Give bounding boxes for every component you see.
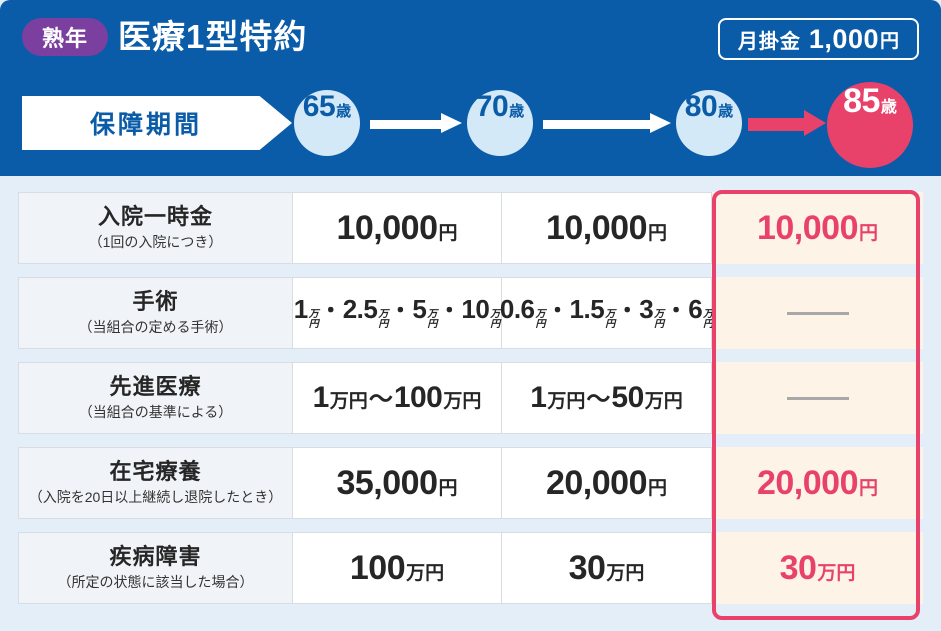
amount-number: 0.6	[500, 296, 535, 322]
amount-unit: 万円	[817, 564, 855, 583]
no-benefit-dash-icon	[787, 397, 849, 400]
age-node-85-suffix: 歳	[881, 93, 897, 117]
amount-number: 1	[294, 296, 308, 322]
amount-unit: 万円	[406, 564, 444, 583]
table-row: 入院一時金 （1回の入院につき） 10,000円 10,000円 10,000円	[18, 192, 923, 264]
card-header: 熟年 医療1型特約 月掛金 1,000 円 保障期間 65歳 70歳	[0, 0, 941, 176]
amount-number: 30	[569, 551, 606, 585]
amount-number: 30	[780, 551, 817, 585]
page-title: 医療1型特約	[118, 13, 307, 61]
age-node-80-value: 80	[685, 90, 717, 124]
benefit-value-age80	[712, 277, 923, 349]
age-node-80: 80歳	[676, 90, 742, 156]
amount-number: 20,000	[757, 466, 858, 500]
benefit-note: （所定の状態に該当した場合）	[58, 572, 254, 592]
age-node-80-suffix: 歳	[718, 100, 733, 121]
benefit-value-age65: 10,000円	[292, 192, 502, 264]
timeline-arrow-1-icon	[370, 116, 462, 130]
benefit-value-age80: 30万円	[712, 532, 923, 604]
amount-unit: 万円	[443, 392, 481, 411]
benefit-value-age70: 30万円	[502, 532, 712, 604]
benefit-name-cell: 入院一時金 （1回の入院につき）	[18, 192, 292, 264]
premium-amount: 1,000	[809, 24, 879, 55]
man-unit: 万	[427, 310, 437, 320]
man-unit: 万	[703, 310, 713, 320]
amount-number: 10,000	[546, 211, 647, 245]
coverage-period-banner: 保障期間	[22, 96, 292, 150]
benefit-value-age70: 1万円〜50万円	[502, 362, 712, 434]
benefit-value-age80	[712, 362, 923, 434]
man-unit: 万	[490, 310, 500, 320]
man-unit: 万	[536, 310, 546, 320]
plan-category-badge: 熟年	[22, 18, 108, 56]
benefit-name: 在宅療養	[109, 459, 201, 485]
benefit-name: 手術	[132, 289, 178, 315]
benefit-name-cell: 手術 （当組合の定める手術）	[18, 277, 292, 349]
age-node-65: 65歳	[294, 90, 360, 156]
coverage-timeline: 保障期間 65歳 70歳 80歳 85歳	[0, 82, 941, 166]
benefit-name: 先進医療	[109, 374, 201, 400]
benefit-value-age65: 35,000円	[292, 447, 502, 519]
no-benefit-dash-icon	[787, 312, 849, 315]
amount-unit: 万円	[547, 392, 585, 411]
amount-unit: 円	[648, 224, 667, 243]
age-node-70-suffix: 歳	[509, 100, 524, 121]
yen-unit: 円	[605, 320, 615, 330]
table-row: 手術 （当組合の定める手術） 1万円・2.5万円・5万円・10万円 0.6万円・…	[18, 277, 923, 349]
header-title-bar: 熟年 医療1型特約 月掛金 1,000 円	[0, 0, 941, 80]
amount-from: 1	[530, 383, 546, 413]
age-node-65-suffix: 歳	[336, 100, 351, 121]
amount-unit: 円	[859, 479, 878, 498]
range-tilde: 〜	[586, 388, 610, 412]
table-row: 疾病障害 （所定の状態に該当した場合） 100万円 30万円 30万円	[18, 532, 923, 604]
amount-number: 10,000	[757, 211, 858, 245]
premium-unit: 円	[880, 26, 899, 53]
yen-unit: 円	[490, 320, 500, 330]
yen-unit: 円	[309, 320, 319, 330]
amount-number: 10	[461, 296, 489, 322]
benefit-note: （当組合の定める手術）	[79, 317, 233, 337]
benefits-table: 入院一時金 （1回の入院につき） 10,000円 10,000円 10,000円	[18, 192, 923, 604]
benefit-name-cell: 在宅療養 （入院を20日以上継続し退院したとき）	[18, 447, 292, 519]
premium-label: 月掛金	[738, 25, 801, 54]
benefit-note: （1回の入院につき）	[89, 232, 223, 252]
man-unit: 万	[654, 310, 664, 320]
age-node-70: 70歳	[467, 90, 533, 156]
benefit-value-age80: 10,000円	[712, 192, 923, 264]
timeline-arrow-2-icon	[543, 116, 671, 130]
man-unit: 万	[605, 310, 615, 320]
amount-number: 100	[350, 551, 405, 585]
amount-number: 1.5	[570, 296, 605, 322]
amount-unit: 万円	[645, 392, 683, 411]
insurance-plan-card: 熟年 医療1型特約 月掛金 1,000 円 保障期間 65歳 70歳	[0, 0, 941, 631]
amount-unit: 円	[438, 479, 457, 498]
amount-number: 20,000	[546, 466, 647, 500]
benefit-note: （入院を20日以上継続し退院したとき）	[29, 487, 283, 507]
amount-number: 5	[412, 296, 426, 322]
yen-unit: 円	[378, 320, 388, 330]
man-unit: 万	[378, 310, 388, 320]
amount-unit: 円	[859, 224, 878, 243]
benefit-name-cell: 疾病障害 （所定の状態に該当した場合）	[18, 532, 292, 604]
age-node-85-value: 85	[843, 82, 880, 121]
amount-number: 2.5	[343, 296, 378, 322]
yen-unit: 円	[536, 320, 546, 330]
benefit-value-age70: 10,000円	[502, 192, 712, 264]
table-row: 在宅療養 （入院を20日以上継続し退院したとき） 35,000円 20,000円…	[18, 447, 923, 519]
age-node-65-value: 65	[303, 90, 335, 124]
amount-to: 100	[394, 383, 443, 413]
amount-from: 1	[313, 383, 329, 413]
table-row: 先進医療 （当組合の基準による） 1万円〜100万円 1万円〜50万円	[18, 362, 923, 434]
age-node-70-value: 70	[476, 90, 508, 124]
timeline-arrow-3-icon	[748, 116, 826, 130]
man-unit: 万	[309, 310, 319, 320]
benefit-note: （当組合の基準による）	[79, 402, 233, 422]
benefit-value-age70: 20,000円	[502, 447, 712, 519]
benefit-value-age80: 20,000円	[712, 447, 923, 519]
yen-unit: 円	[703, 320, 713, 330]
benefit-value-age65: 100万円	[292, 532, 502, 604]
amount-unit: 円	[438, 224, 457, 243]
range-tilde: 〜	[369, 388, 393, 412]
benefit-value-age65: 1万円〜100万円	[292, 362, 502, 434]
amount-unit: 円	[648, 479, 667, 498]
age-node-85: 85歳	[827, 82, 913, 168]
amount-number: 35,000	[336, 466, 437, 500]
benefit-name: 疾病障害	[109, 544, 201, 570]
amount-to: 50	[611, 383, 643, 413]
amount-unit: 万円	[330, 392, 368, 411]
benefit-name: 入院一時金	[98, 204, 213, 230]
benefit-name-cell: 先進医療 （当組合の基準による）	[18, 362, 292, 434]
amount-number: 3	[639, 296, 653, 322]
benefit-value-age70: 0.6万円・1.5万円・3万円・6万円	[502, 277, 712, 349]
benefit-value-age65: 1万円・2.5万円・5万円・10万円	[292, 277, 502, 349]
monthly-premium-box: 月掛金 1,000 円	[718, 18, 919, 60]
amount-unit: 万円	[606, 564, 644, 583]
amount-number: 10,000	[336, 211, 437, 245]
amount-number: 6	[688, 296, 702, 322]
yen-unit: 円	[654, 320, 664, 330]
yen-unit: 円	[427, 320, 437, 330]
